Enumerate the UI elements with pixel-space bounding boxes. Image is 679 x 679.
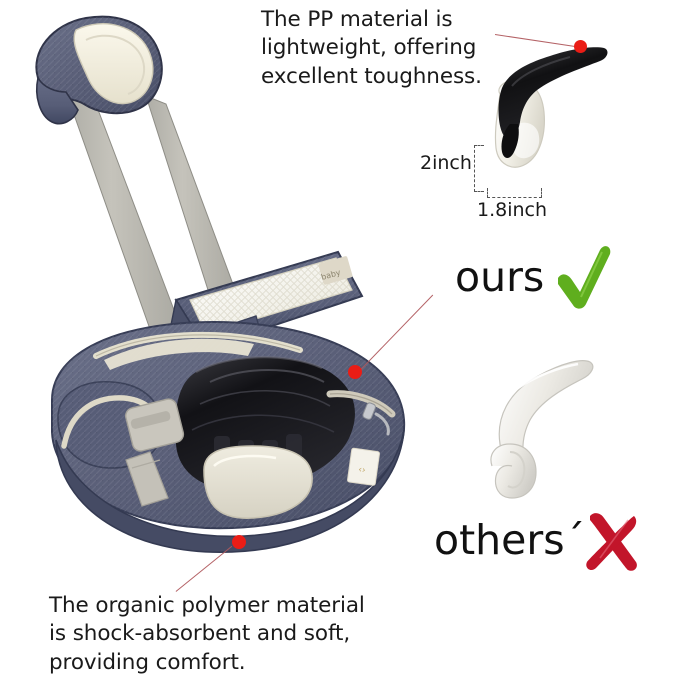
check-mark-icon <box>550 240 618 312</box>
width-dimension-label: 1.8inch <box>477 199 547 221</box>
others-label: others´ <box>434 516 585 564</box>
pp-material-caption: The PP material is lightweight, offering… <box>261 6 511 91</box>
infographic-canvas: baby <box>0 0 679 679</box>
ours-label: ours <box>455 253 544 301</box>
callout-dot-hip-seat <box>348 365 362 379</box>
width-bracket <box>487 188 542 198</box>
svg-text:‹›: ‹› <box>358 465 367 476</box>
callout-dot-pp-material <box>574 40 587 53</box>
callout-dot-foam-pad <box>232 535 246 549</box>
height-bracket <box>474 145 484 192</box>
others-clip <box>470 348 620 508</box>
shoulder-pad <box>36 17 161 124</box>
height-dimension-label: 2inch <box>420 152 472 174</box>
cross-mark-icon <box>580 508 646 576</box>
polymer-material-caption: The organic polymer material is shock-ab… <box>49 592 399 677</box>
